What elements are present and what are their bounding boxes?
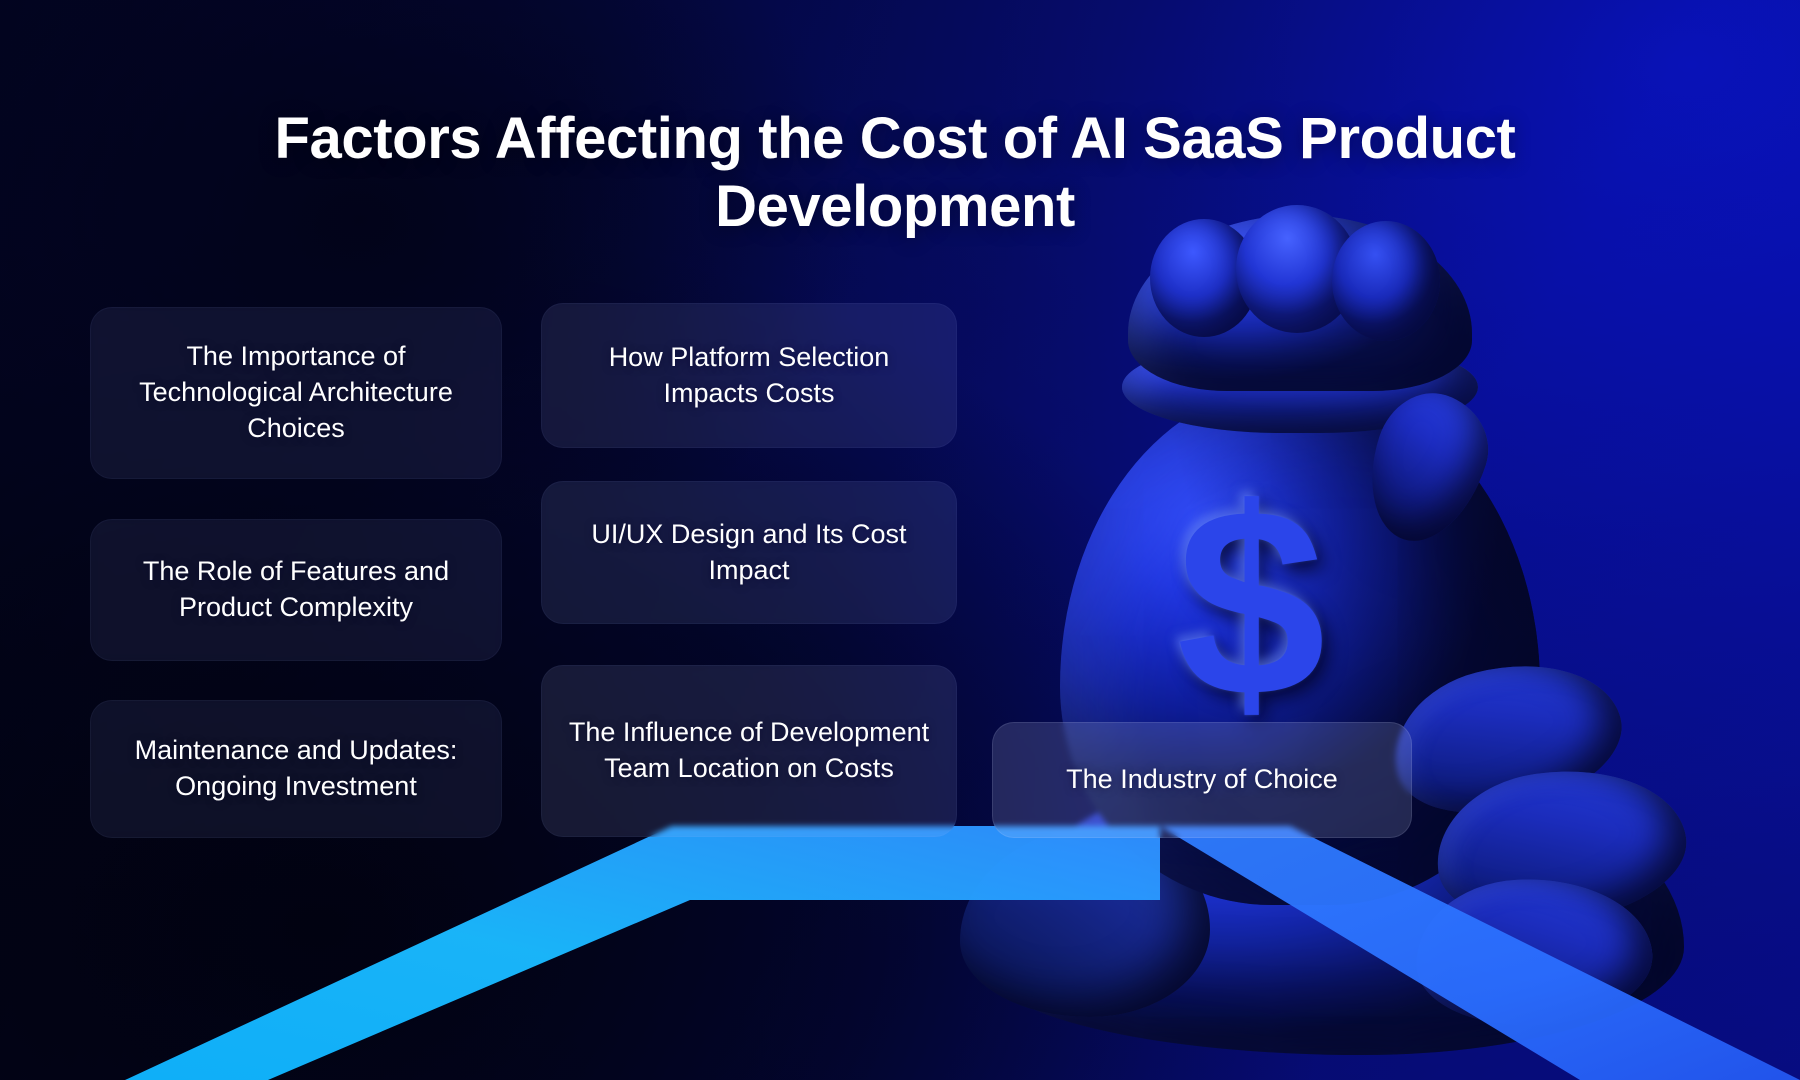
- page-title: Factors Affecting the Cost of AI SaaS Pr…: [170, 105, 1620, 241]
- factor-card-maintenance-updates[interactable]: Maintenance and Updates: Ongoing Investm…: [90, 700, 502, 838]
- factor-card-features-complexity[interactable]: The Role of Features and Product Complex…: [90, 519, 502, 661]
- dollar-sign-icon: $: [1126, 483, 1376, 733]
- factor-card-label: UI/UX Design and Its Cost Impact: [568, 517, 930, 589]
- factor-card-industry-of-choice[interactable]: The Industry of Choice: [992, 722, 1412, 838]
- factor-card-label: The Influence of Development Team Locati…: [568, 715, 930, 787]
- factor-card-technological-architecture[interactable]: The Importance of Technological Architec…: [90, 307, 502, 479]
- factor-card-label: The Industry of Choice: [1019, 762, 1385, 798]
- factor-card-label: The Importance of Technological Architec…: [117, 339, 475, 447]
- factor-card-label: How Platform Selection Impacts Costs: [568, 340, 930, 412]
- infographic-canvas: $: [0, 0, 1800, 1080]
- factor-card-uiux-design[interactable]: UI/UX Design and Its Cost Impact: [541, 481, 957, 624]
- factor-card-label: The Role of Features and Product Complex…: [117, 554, 475, 626]
- factor-card-label: Maintenance and Updates: Ongoing Investm…: [117, 733, 475, 805]
- money-bag-illustration: $: [1000, 215, 1800, 1015]
- factor-card-team-location[interactable]: The Influence of Development Team Locati…: [541, 665, 957, 837]
- factor-card-platform-selection[interactable]: How Platform Selection Impacts Costs: [541, 303, 957, 448]
